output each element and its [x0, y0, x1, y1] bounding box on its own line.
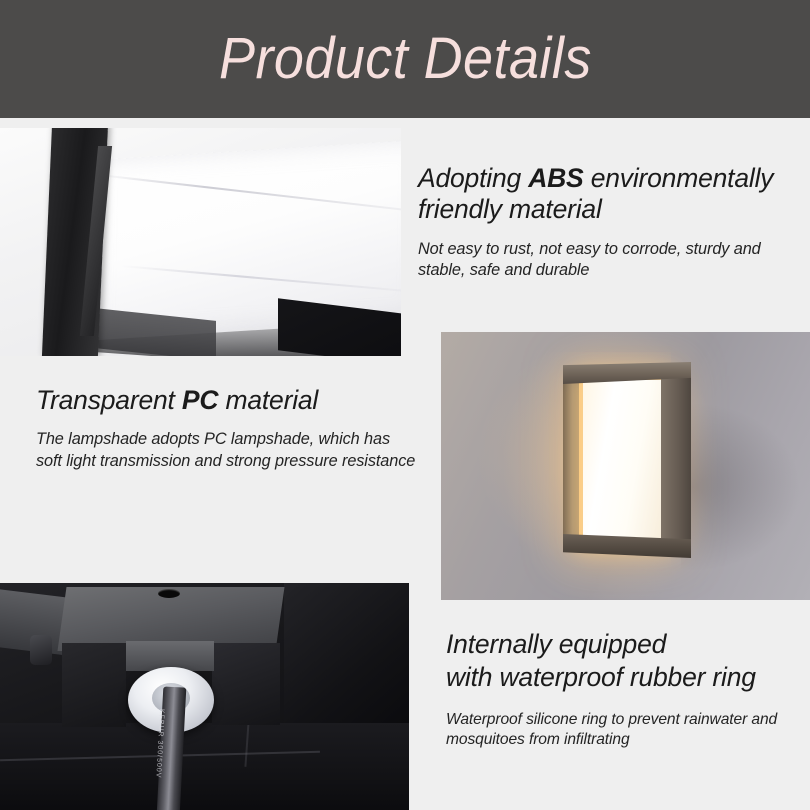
lamp-front-lip — [661, 372, 691, 550]
feature-heading-pc-material: Transparent PC material — [36, 385, 416, 416]
heading-emphasis-pc: PC — [182, 385, 218, 415]
feature-body-abs-material: Not easy to rust, not easy to corrode, s… — [418, 239, 800, 282]
heading-text-after: material — [218, 385, 318, 415]
photo-lamp-lit-wall — [441, 332, 810, 600]
heading-text-rubber-ring: Internally equippedwith waterproof rubbe… — [446, 629, 756, 692]
heading-emphasis-abs: ABS — [528, 163, 583, 193]
fixture-right-panel — [284, 583, 409, 733]
heading-text-before: Adopting — [418, 163, 528, 193]
wall-shadow — [681, 402, 801, 572]
lamp-back-plate — [563, 370, 579, 552]
feature-body-rubber-ring: Waterproof silicone ring to prevent rain… — [446, 710, 806, 751]
fixture-screw-post — [30, 635, 52, 665]
photo-lampshade-closeup — [0, 128, 401, 356]
fixture-mounting-hole — [158, 589, 180, 598]
feature-heading-rubber-ring: Internally equippedwith waterproof rubbe… — [446, 628, 806, 694]
lamp-light-panel — [583, 380, 665, 542]
fixture-base-surface — [0, 723, 409, 810]
feature-block-rubber-ring: Internally equippedwith waterproof rubbe… — [446, 628, 806, 751]
wall-lamp-fixture — [563, 362, 691, 558]
page-title: Product Details — [219, 30, 592, 88]
feature-block-pc-material: Transparent PC material The lampshade ad… — [36, 385, 416, 472]
black-frame-bracket — [42, 128, 108, 356]
heading-text-before: Transparent — [36, 385, 182, 415]
feature-body-pc-material: The lampshade adopts PC lampshade, which… — [36, 429, 416, 472]
fixture-body-left — [62, 643, 126, 727]
feature-block-abs-material: Adopting ABS environmentally friendly ma… — [418, 163, 800, 282]
photo-rubber-ring: KFBUR 300/500V — [0, 583, 409, 810]
fixture-body-right — [212, 643, 280, 725]
feature-heading-abs-material: Adopting ABS environmentally friendly ma… — [418, 163, 800, 226]
header-banner: Product Details — [0, 0, 810, 118]
